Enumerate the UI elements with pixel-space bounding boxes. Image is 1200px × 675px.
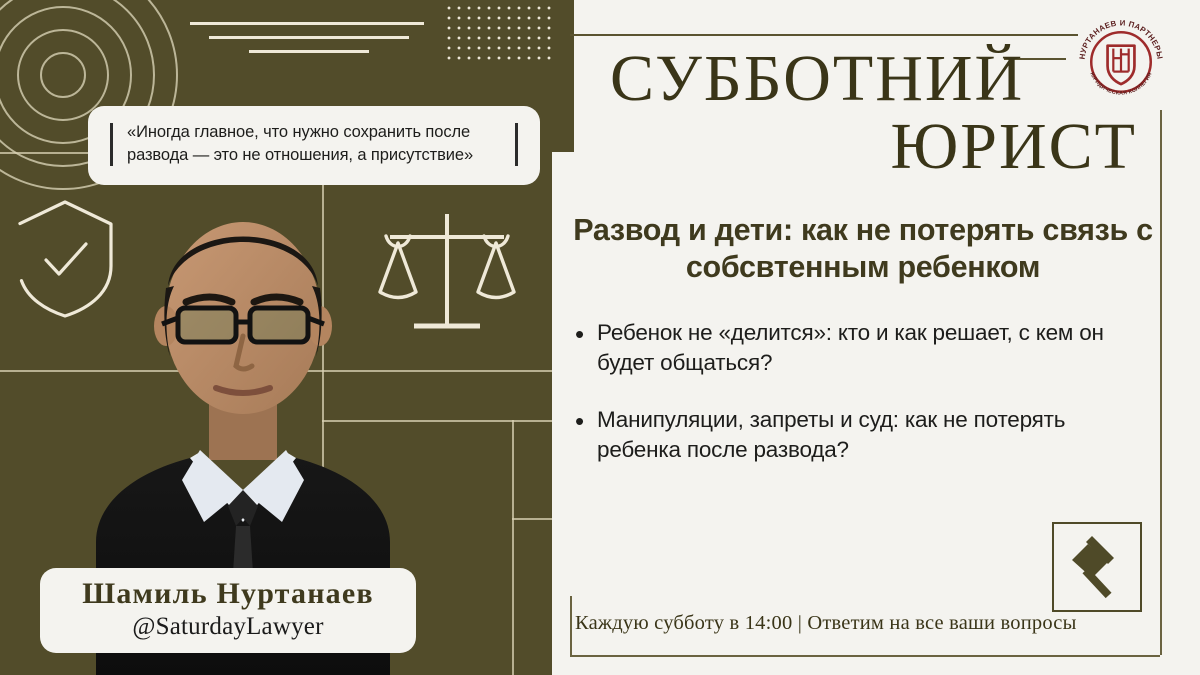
quote-left-rule <box>110 123 113 166</box>
footer-rule <box>570 655 1160 657</box>
footer-left-rule <box>570 596 572 656</box>
list-item: • Ребенок не «делится»: кто и как решает… <box>575 318 1155 377</box>
title-line-2: ЮРИСТ <box>575 116 1155 178</box>
list-item-text: Ребенок не «делится»: кто и как решает, … <box>597 318 1155 377</box>
grid-line <box>512 420 514 675</box>
speaker-name-card: Шамиль Нуртанаев @SaturdayLawyer <box>40 568 416 653</box>
title-line-1: СУББОТНИЙ <box>575 48 1155 110</box>
bullet-marker: • <box>575 318 597 377</box>
speaker-name: Шамиль Нуртанаев <box>40 577 416 611</box>
quote-callout: «Иногда главное, что нужно сохранить пос… <box>88 106 540 185</box>
bullet-marker: • <box>575 405 597 464</box>
panel-notch-top <box>552 0 574 152</box>
quote-text: «Иногда главное, что нужно сохранить пос… <box>127 121 501 168</box>
topic-list: • Ребенок не «делится»: кто и как решает… <box>575 318 1155 493</box>
page-title: СУББОТНИЙ ЮРИСТ <box>575 48 1155 178</box>
speaker-handle: @SaturdayLawyer <box>40 612 416 642</box>
gavel-icon-box <box>1052 522 1142 612</box>
list-item-text: Манипуляции, запреты и суд: как не потер… <box>597 405 1155 464</box>
header-rule <box>570 34 1078 36</box>
stacked-lines-decoration <box>190 22 440 64</box>
list-item: • Манипуляции, запреты и суд: как не пот… <box>575 405 1155 464</box>
panel-notch-step <box>552 152 574 180</box>
episode-subtitle: Развод и дети: как не потерять связь с с… <box>563 212 1163 285</box>
right-vertical-rule <box>1160 110 1162 655</box>
left-olive-panel: «Иногда главное, что нужно сохранить пос… <box>0 0 574 675</box>
gavel-icon <box>1064 533 1130 599</box>
schedule-footer: Каждую субботу в 14:00 | Ответим на все … <box>575 612 1155 635</box>
quote-right-rule <box>515 123 518 166</box>
poster-canvas: «Иногда главное, что нужно сохранить пос… <box>0 0 1200 675</box>
